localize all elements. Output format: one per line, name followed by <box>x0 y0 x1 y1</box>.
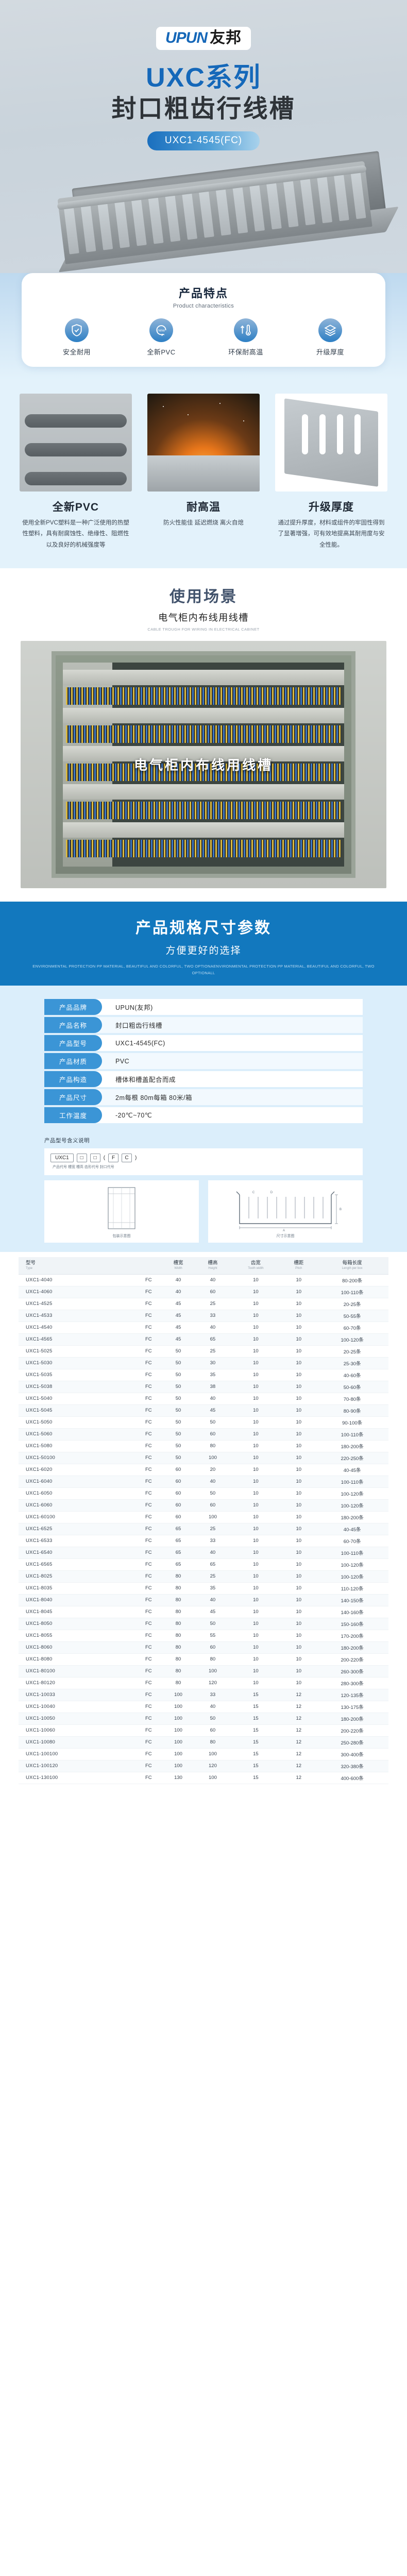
table-cell: FC <box>136 1772 161 1784</box>
table-cell: 120-135条 <box>316 1689 388 1701</box>
detail-col-2: 升级厚度 通过提升厚度，材料或组件的牢固性得到了显著增强，可有效地提高其耐用度与… <box>275 394 387 551</box>
table-cell: 65 <box>195 1333 230 1345</box>
table-cell: 50-60条 <box>316 1381 388 1393</box>
table-cell: 10 <box>281 1440 316 1452</box>
table-cell: 50 <box>195 1618 230 1630</box>
table-row: UXC1-10033FC100331512120-135条 <box>19 1689 388 1701</box>
table-cell: 25 <box>195 1298 230 1310</box>
table-cell: 12 <box>281 1772 316 1784</box>
table-cell: 10 <box>281 1345 316 1357</box>
table-cell: 100 <box>195 1511 230 1523</box>
table-cell: FC <box>136 1416 161 1428</box>
table-cell: 10 <box>281 1487 316 1499</box>
table-cell: FC <box>136 1665 161 1677</box>
table-cell: 10 <box>281 1381 316 1393</box>
table-cell: 80 <box>195 1653 230 1665</box>
table-cell: 80 <box>161 1570 196 1582</box>
table-cell: FC <box>136 1570 161 1582</box>
table-cell: FC <box>136 1689 161 1701</box>
table-cell: 100 <box>161 1748 196 1760</box>
table-cell: FC <box>136 1428 161 1440</box>
table-cell: UXC1-4565 <box>19 1333 136 1345</box>
table-cell: UXC1-5025 <box>19 1345 136 1357</box>
table-cell: 10 <box>230 1487 281 1499</box>
spec-row: 产品构造槽体和槽盖配合而成 <box>44 1071 363 1087</box>
detail-col-0: 全新PVC 使用全新PVC塑料是一种广泛使用的热塑性塑料，具有耐腐蚀性、绝缘性、… <box>20 394 132 551</box>
table-cell: 10 <box>230 1286 281 1298</box>
table-cell: FC <box>136 1357 161 1369</box>
table-cell: UXC1-6020 <box>19 1464 136 1476</box>
table-cell: UXC1-8040 <box>19 1594 136 1606</box>
table-row: UXC1-4525FC4525101020-25条 <box>19 1298 388 1310</box>
scene-subtitle-en: CABLE TROUGH FOR WIRING IN ELECTRICAL CA… <box>0 627 407 632</box>
table-row: UXC1-4060FC40601010100-110条 <box>19 1286 388 1298</box>
table-cell: 80 <box>161 1582 196 1594</box>
models-table-header-cell: 型号Type <box>19 1257 136 1274</box>
detail-image-pvc <box>20 394 132 492</box>
table-cell: UXC1-10033 <box>19 1689 136 1701</box>
table-cell: 10 <box>230 1274 281 1286</box>
table-row: UXC1-6525FC6525101040-45条 <box>19 1523 388 1535</box>
table-row: UXC1-8080FC80801010200-220条 <box>19 1653 388 1665</box>
table-cell: FC <box>136 1464 161 1476</box>
table-cell: 50 <box>161 1440 196 1452</box>
spec-key: 工作温度 <box>44 1107 102 1123</box>
table-cell: 140-160条 <box>316 1606 388 1618</box>
table-cell: FC <box>136 1653 161 1665</box>
svg-text:D: D <box>270 1191 273 1194</box>
table-cell: 10 <box>230 1630 281 1641</box>
usage-scene-section: 使用场景 电气柜内布线用线槽 CABLE TROUGH FOR WIRING I… <box>0 568 407 902</box>
table-cell: 10 <box>230 1511 281 1523</box>
table-row: UXC1-8040FC80401010140-150条 <box>19 1594 388 1606</box>
table-cell: 10 <box>230 1452 281 1464</box>
model-code-box: UXC1□□(FC) 产品代号 槽宽 槽高 齿形代号 封口代号 <box>44 1148 363 1175</box>
model-code-line: UXC1□□(FC) <box>50 1154 357 1162</box>
table-cell: 10 <box>281 1274 316 1286</box>
table-cell: 10 <box>281 1570 316 1582</box>
table-cell: 10 <box>230 1369 281 1381</box>
table-row: UXC1-80100FC801001010260-300条 <box>19 1665 388 1677</box>
spec-key: 产品型号 <box>44 1035 102 1051</box>
page-subtitle: 封口粗齿行线槽 <box>0 95 407 123</box>
detail-image-heat <box>147 394 260 492</box>
packaging-diagram-caption: 包装示意图 <box>48 1233 195 1239</box>
dimension-diagram-caption: 尺寸示意图 <box>212 1233 359 1239</box>
table-cell: 10 <box>281 1641 316 1653</box>
table-cell: UXC1-8060 <box>19 1641 136 1653</box>
table-cell: UXC1-10040 <box>19 1701 136 1713</box>
table-cell: FC <box>136 1677 161 1689</box>
table-cell: 15 <box>230 1689 281 1701</box>
table-cell: FC <box>136 1452 161 1464</box>
table-cell: 300-400条 <box>316 1748 388 1760</box>
table-row: UXC1-5045FC5045101080-90条 <box>19 1404 388 1416</box>
scene-photo: 电气柜内布线用线槽 <box>21 641 386 888</box>
table-cell: UXC1-5050 <box>19 1416 136 1428</box>
table-row: UXC1-50100FC501001010220-250条 <box>19 1452 388 1464</box>
table-cell: UXC1-6565 <box>19 1558 136 1570</box>
table-cell: 100-120条 <box>316 1333 388 1345</box>
features-title-en: Product characteristics <box>31 303 376 309</box>
table-cell: UXC1-80100 <box>19 1665 136 1677</box>
hero-section: UPUN友邦 UXC系列 封口粗齿行线槽 UXC1-4545(FC) <box>0 0 407 273</box>
table-cell: 80 <box>161 1606 196 1618</box>
table-cell: 200-220条 <box>316 1653 388 1665</box>
table-cell: 100 <box>195 1452 230 1464</box>
table-cell: FC <box>136 1440 161 1452</box>
table-row: UXC1-5025FC5025101020-25条 <box>19 1345 388 1357</box>
page-title: UXC系列 <box>0 63 407 92</box>
table-cell: 10 <box>230 1641 281 1653</box>
table-cell: UXC1-8055 <box>19 1630 136 1641</box>
table-row: UXC1-5030FC5030101025-30条 <box>19 1357 388 1369</box>
spec-value: 封口粗齿行线槽 <box>102 1020 162 1030</box>
table-cell: 10 <box>230 1677 281 1689</box>
table-cell: 100 <box>195 1772 230 1784</box>
table-cell: 100-120条 <box>316 1487 388 1499</box>
table-cell: 20 <box>195 1464 230 1476</box>
table-cell: 65 <box>161 1547 196 1558</box>
table-cell: 80-90条 <box>316 1404 388 1416</box>
brand-logo: UPUN友邦 <box>156 27 251 50</box>
packaging-diagram: 包装示意图 <box>44 1180 199 1243</box>
features-grid: 安全耐用 new 全新PVC 环保耐高温 <box>31 318 376 357</box>
table-cell: 10 <box>281 1476 316 1487</box>
table-cell: FC <box>136 1393 161 1404</box>
feature-item-1: new 全新PVC <box>123 318 200 357</box>
table-cell: FC <box>136 1760 161 1772</box>
spec-key: 产品材质 <box>44 1053 102 1069</box>
table-cell: 100 <box>161 1736 196 1748</box>
feature-label-0: 安全耐用 <box>38 347 115 357</box>
table-cell: 35 <box>195 1582 230 1594</box>
svg-text:B: B <box>340 1208 342 1211</box>
table-cell: UXC1-5035 <box>19 1369 136 1381</box>
table-cell: 60 <box>195 1499 230 1511</box>
spec-key: 产品名称 <box>44 1017 102 1033</box>
table-cell: 60-70条 <box>316 1321 388 1333</box>
model-code-section: 产品型号含义说明 UXC1□□(FC) 产品代号 槽宽 槽高 齿形代号 封口代号… <box>0 1130 407 1252</box>
table-cell: FC <box>136 1618 161 1630</box>
spec-row: 产品材质PVC <box>44 1053 363 1069</box>
table-cell: 30 <box>195 1357 230 1369</box>
svg-text:C: C <box>252 1191 255 1194</box>
table-row: UXC1-10080FC100801512250-280条 <box>19 1736 388 1748</box>
detail-heading-0: 全新PVC <box>20 499 132 514</box>
spec-value: PVC <box>102 1058 129 1065</box>
table-cell: 10 <box>281 1452 316 1464</box>
table-cell: 60 <box>161 1476 196 1487</box>
table-cell: 50 <box>195 1416 230 1428</box>
models-table: 型号Type槽宽Width槽高Height齿宽Tooth width槽距Pitc… <box>19 1257 388 1784</box>
table-row: UXC1-10050FC100501512180-200条 <box>19 1713 388 1724</box>
table-cell: FC <box>136 1748 161 1760</box>
table-cell: 45 <box>161 1298 196 1310</box>
table-cell: 100-110条 <box>316 1547 388 1558</box>
table-cell: FC <box>136 1499 161 1511</box>
table-cell: FC <box>136 1630 161 1641</box>
table-cell: 50-55条 <box>316 1310 388 1321</box>
spec-key: 产品尺寸 <box>44 1089 102 1105</box>
spec-banner-title: 产品规格尺寸参数 <box>0 915 407 938</box>
table-cell: 40-60条 <box>316 1369 388 1381</box>
features-section: 产品特点 Product characteristics 安全耐用 new 全新… <box>0 273 407 380</box>
table-cell: 10 <box>230 1535 281 1547</box>
table-cell: 45 <box>195 1606 230 1618</box>
table-cell: 80 <box>161 1677 196 1689</box>
spec-value: UXC1-4545(FC) <box>102 1040 165 1047</box>
table-cell: 65 <box>195 1558 230 1570</box>
table-cell: 60 <box>161 1487 196 1499</box>
table-cell: 120 <box>195 1760 230 1772</box>
table-cell: FC <box>136 1523 161 1535</box>
table-cell: FC <box>136 1333 161 1345</box>
table-cell: 60 <box>161 1511 196 1523</box>
table-cell: 10 <box>230 1594 281 1606</box>
table-cell: UXC1-5040 <box>19 1393 136 1404</box>
spec-value: 2m每根 80m每箱 80米/箱 <box>102 1092 192 1102</box>
table-cell: 50 <box>161 1452 196 1464</box>
table-cell: 10 <box>281 1428 316 1440</box>
table-cell: 100 <box>161 1713 196 1724</box>
model-code-cell: □ <box>90 1154 100 1162</box>
table-row: UXC1-8045FC80451010140-160条 <box>19 1606 388 1618</box>
table-cell: 10 <box>281 1499 316 1511</box>
table-cell: UXC1-8035 <box>19 1582 136 1594</box>
table-cell: UXC1-80120 <box>19 1677 136 1689</box>
table-cell: 10 <box>281 1464 316 1476</box>
table-cell: 60 <box>161 1464 196 1476</box>
table-cell: 65 <box>161 1558 196 1570</box>
model-badge: UXC1-4545(FC) <box>147 131 260 150</box>
table-cell: 50 <box>161 1416 196 1428</box>
table-cell: 10 <box>230 1464 281 1476</box>
table-cell: 80 <box>161 1665 196 1677</box>
table-cell: FC <box>136 1582 161 1594</box>
table-cell: 10 <box>281 1416 316 1428</box>
table-cell: 45 <box>161 1310 196 1321</box>
scene-photo-caption: 电气柜内布线用线槽 <box>134 755 273 774</box>
table-cell: 12 <box>281 1713 316 1724</box>
table-cell: 100-110条 <box>316 1476 388 1487</box>
table-cell: 45 <box>161 1333 196 1345</box>
table-cell: 120 <box>195 1677 230 1689</box>
table-cell: 12 <box>281 1760 316 1772</box>
table-cell: 10 <box>230 1428 281 1440</box>
table-cell: 10 <box>281 1511 316 1523</box>
table-cell: UXC1-8025 <box>19 1570 136 1582</box>
table-cell: UXC1-130100 <box>19 1772 136 1784</box>
table-cell: 60 <box>195 1724 230 1736</box>
table-cell: 25 <box>195 1570 230 1582</box>
table-cell: 100-110条 <box>316 1428 388 1440</box>
table-cell: 10 <box>281 1523 316 1535</box>
table-cell: 100 <box>161 1689 196 1701</box>
detail-text-1: 防火性能佳 延迟燃烧 离火自熄 <box>147 518 260 529</box>
table-cell: 50 <box>161 1393 196 1404</box>
table-cell: 50 <box>161 1357 196 1369</box>
table-cell: 80 <box>161 1618 196 1630</box>
table-cell: FC <box>136 1298 161 1310</box>
table-cell: 10 <box>230 1333 281 1345</box>
table-row: UXC1-4540FC4540101060-70条 <box>19 1321 388 1333</box>
models-table-header-cell: 槽宽Width <box>161 1257 196 1274</box>
table-cell: UXC1-8050 <box>19 1618 136 1630</box>
table-cell: 15 <box>230 1701 281 1713</box>
table-cell: 65 <box>161 1535 196 1547</box>
table-cell: 10 <box>281 1582 316 1594</box>
table-cell: FC <box>136 1321 161 1333</box>
spec-banner-en: ENVIRONMENTAL PROTECTION PP MATERIAL, BE… <box>0 963 407 977</box>
table-cell: 150-160条 <box>316 1618 388 1630</box>
table-cell: 10 <box>281 1558 316 1570</box>
table-cell: 20-25条 <box>316 1345 388 1357</box>
table-cell: 40-45条 <box>316 1464 388 1476</box>
svg-text:new: new <box>158 328 165 333</box>
model-code-cell: C <box>122 1154 132 1162</box>
table-row: UXC1-6040FC60401010100-110条 <box>19 1476 388 1487</box>
table-cell: FC <box>136 1369 161 1381</box>
table-cell: 15 <box>230 1713 281 1724</box>
table-cell: FC <box>136 1381 161 1393</box>
table-cell: 10 <box>230 1476 281 1487</box>
table-cell: UXC1-6533 <box>19 1535 136 1547</box>
table-cell: 10 <box>230 1357 281 1369</box>
table-cell: 10 <box>230 1393 281 1404</box>
table-row: UXC1-10060FC100601512200-220条 <box>19 1724 388 1736</box>
table-row: UXC1-5060FC50601010100-110条 <box>19 1428 388 1440</box>
table-cell: 10 <box>230 1499 281 1511</box>
table-cell: 45 <box>195 1404 230 1416</box>
table-row: UXC1-6020FC6020101040-45条 <box>19 1464 388 1476</box>
table-cell: 10 <box>281 1393 316 1404</box>
table-cell: 33 <box>195 1310 230 1321</box>
table-cell: 100 <box>161 1724 196 1736</box>
table-cell: FC <box>136 1535 161 1547</box>
svg-text:A: A <box>283 1229 285 1232</box>
table-cell: UXC1-10050 <box>19 1713 136 1724</box>
table-cell: 100 <box>195 1748 230 1760</box>
table-cell: FC <box>136 1641 161 1653</box>
table-cell: 80 <box>161 1641 196 1653</box>
table-cell: 80 <box>161 1653 196 1665</box>
table-cell: 40 <box>195 1321 230 1333</box>
table-cell: 100 <box>161 1701 196 1713</box>
table-cell: 100 <box>161 1760 196 1772</box>
table-cell: UXC1-5060 <box>19 1428 136 1440</box>
table-row: UXC1-4040FC4040101080-200条 <box>19 1274 388 1286</box>
table-cell: 60-70条 <box>316 1535 388 1547</box>
table-cell: UXC1-100120 <box>19 1760 136 1772</box>
table-row: UXC1-5038FC5038101050-60条 <box>19 1381 388 1393</box>
table-cell: FC <box>136 1404 161 1416</box>
table-cell: 260-300条 <box>316 1665 388 1677</box>
table-cell: UXC1-6060 <box>19 1499 136 1511</box>
table-cell: 15 <box>230 1736 281 1748</box>
table-cell: 10 <box>230 1310 281 1321</box>
table-cell: 80 <box>195 1736 230 1748</box>
table-cell: 50 <box>195 1713 230 1724</box>
feature-item-2: 环保耐高温 <box>207 318 284 357</box>
table-cell: 250-280条 <box>316 1736 388 1748</box>
table-cell: 12 <box>281 1724 316 1736</box>
table-cell: 10 <box>230 1665 281 1677</box>
table-cell: FC <box>136 1274 161 1286</box>
table-cell: 280-300条 <box>316 1677 388 1689</box>
table-cell: 40 <box>195 1547 230 1558</box>
table-cell: UXC1-60100 <box>19 1511 136 1523</box>
table-cell: 80 <box>195 1440 230 1452</box>
table-cell: FC <box>136 1736 161 1748</box>
table-cell: 10 <box>230 1416 281 1428</box>
table-cell: 50 <box>161 1369 196 1381</box>
table-cell: 10 <box>281 1665 316 1677</box>
spec-list: 产品品牌UPUN(友邦)产品名称封口粗齿行线槽产品型号UXC1-4545(FC)… <box>44 999 363 1123</box>
cable-duct-render <box>57 150 397 273</box>
detail-heading-2: 升级厚度 <box>275 499 387 514</box>
table-cell: 400-600条 <box>316 1772 388 1784</box>
table-row: UXC1-60100FC601001010180-200条 <box>19 1511 388 1523</box>
spec-row: 产品名称封口粗齿行线槽 <box>44 1017 363 1033</box>
table-cell: 130-175条 <box>316 1701 388 1713</box>
scene-title: 使用场景 <box>0 584 407 606</box>
table-cell: 60 <box>195 1641 230 1653</box>
table-cell: 50 <box>161 1345 196 1357</box>
dimension-diagram: A B C D 尺寸示意图 <box>208 1180 363 1243</box>
table-row: UXC1-8050FC80501010150-160条 <box>19 1618 388 1630</box>
models-table-body: UXC1-4040FC4040101080-200条UXC1-4060FC406… <box>19 1274 388 1784</box>
table-cell: 180-200条 <box>316 1641 388 1653</box>
models-table-header-cell: 每箱长度Length per box <box>316 1257 388 1274</box>
table-cell: 100-120条 <box>316 1570 388 1582</box>
table-cell: 15 <box>230 1724 281 1736</box>
table-cell: 12 <box>281 1701 316 1713</box>
table-cell: UXC1-5038 <box>19 1381 136 1393</box>
model-code-legend: 产品代号 槽宽 槽高 齿形代号 封口代号 <box>50 1164 357 1170</box>
table-cell: 38 <box>195 1381 230 1393</box>
spec-list-section: 产品品牌UPUN(友邦)产品名称封口粗齿行线槽产品型号UXC1-4545(FC)… <box>0 986 407 1130</box>
table-cell: 40 <box>161 1274 196 1286</box>
detail-columns-section: 全新PVC 使用全新PVC塑料是一种广泛使用的热塑性塑料，具有耐腐蚀性、绝缘性、… <box>0 380 407 568</box>
table-cell: 15 <box>230 1760 281 1772</box>
table-cell: 110-120条 <box>316 1582 388 1594</box>
table-cell: 40 <box>195 1274 230 1286</box>
table-cell: 55 <box>195 1630 230 1641</box>
table-cell: UXC1-5080 <box>19 1440 136 1452</box>
table-cell: FC <box>136 1701 161 1713</box>
table-row: UXC1-100120FC1001201512320-380条 <box>19 1760 388 1772</box>
table-cell: 10 <box>281 1535 316 1547</box>
table-cell: FC <box>136 1547 161 1558</box>
table-cell: 100-120条 <box>316 1558 388 1570</box>
table-cell: 10 <box>230 1440 281 1452</box>
feature-label-3: 升级厚度 <box>292 347 369 357</box>
table-cell: 12 <box>281 1736 316 1748</box>
table-row: UXC1-6050FC60501010100-120条 <box>19 1487 388 1499</box>
table-cell: 10 <box>230 1653 281 1665</box>
table-cell: UXC1-4060 <box>19 1286 136 1298</box>
table-cell: 320-380条 <box>316 1760 388 1772</box>
table-cell: 35 <box>195 1369 230 1381</box>
table-row: UXC1-8035FC80351010110-120条 <box>19 1582 388 1594</box>
model-code-prefix: UXC1 <box>50 1154 74 1162</box>
table-cell: 180-200条 <box>316 1511 388 1523</box>
logo-cn-text: 友邦 <box>210 29 242 46</box>
table-cell: 10 <box>230 1582 281 1594</box>
table-cell: UXC1-6050 <box>19 1487 136 1499</box>
spec-value: 槽体和槽盖配合而成 <box>102 1074 176 1084</box>
